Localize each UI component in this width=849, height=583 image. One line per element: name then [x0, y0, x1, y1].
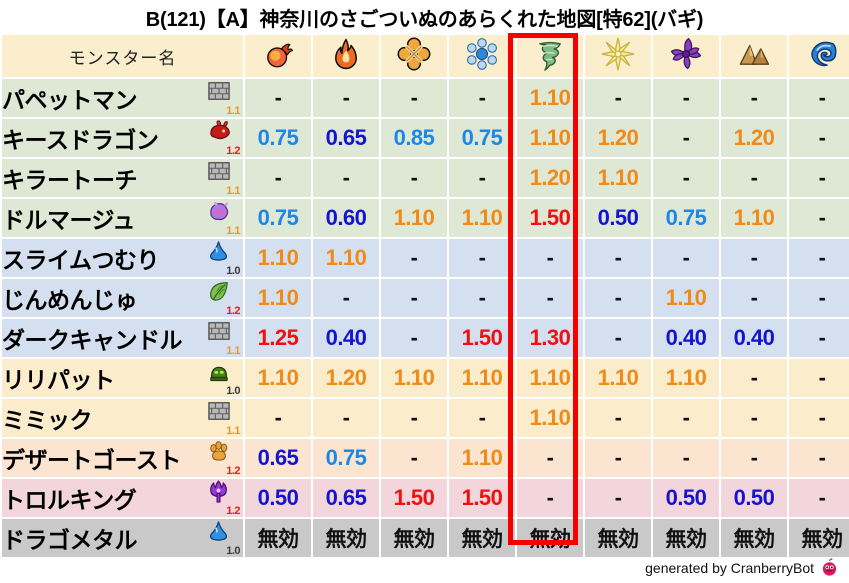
resistance-cell: 0.50	[585, 199, 651, 237]
resistance-cell: -	[381, 439, 447, 477]
resistance-cell: 無効	[721, 519, 787, 557]
resistance-cell: 1.10	[313, 239, 379, 277]
header-row: モンスター名	[2, 35, 849, 77]
resistance-cell: 無効	[381, 519, 447, 557]
bagi-wind-icon	[533, 37, 567, 71]
green-helmet-icon	[208, 360, 230, 382]
page-title: B(121)【A】神奈川のさごついぬのあらくれた地図[特62](バギ)	[0, 3, 849, 32]
footer-text: generated by CranberryBot	[645, 560, 814, 576]
resistance-cell: 1.10	[585, 359, 651, 397]
monster-badge: 1.2	[206, 480, 240, 516]
resistance-cell: 0.75	[245, 119, 311, 157]
resistance-cell: -	[653, 399, 719, 437]
resistance-cell: 無効	[517, 519, 583, 557]
resistance-cell: 1.30	[517, 319, 583, 357]
monster-name-cell[interactable]: パペットマン1.1	[2, 79, 243, 117]
resistance-cell: 1.25	[245, 319, 311, 357]
monster-badge: 1.1	[206, 80, 240, 116]
monster-name-cell[interactable]: じんめんじゅ1.2	[2, 279, 243, 317]
dein-light-icon	[601, 37, 635, 71]
resistance-cell: -	[313, 399, 379, 437]
resistance-cell: -	[381, 279, 447, 317]
resistance-cell: 0.75	[449, 119, 515, 157]
monster-badge: 1.1	[206, 200, 240, 236]
monster-badge-value: 1.2	[226, 466, 240, 477]
table-row: パペットマン1.1----1.10----	[2, 79, 849, 117]
monster-badge-value: 1.1	[226, 346, 240, 357]
red-dragon-icon	[208, 120, 232, 142]
cranberry-icon	[820, 558, 839, 577]
monster-name-label: ドラゴメタル	[2, 521, 137, 555]
monster-name-cell[interactable]: ドラゴメタル1.0	[2, 519, 243, 557]
resistance-cell: -	[517, 439, 583, 477]
column-header-monster-name: モンスター名	[2, 35, 243, 77]
table-row: リリパット1.01.101.201.101.101.101.101.10--	[2, 359, 849, 397]
resistance-cell: 1.10	[245, 279, 311, 317]
monster-name-cell[interactable]: ダークキャンドル1.1	[2, 319, 243, 357]
column-header-dolma-dark[interactable]	[653, 35, 719, 77]
column-header-dein-light[interactable]	[585, 35, 651, 77]
monster-name-label: キースドラゴン	[2, 121, 158, 155]
resistance-cell: 1.10	[517, 399, 583, 437]
resistance-cell: -	[789, 239, 849, 277]
resistance-cell: 1.10	[381, 199, 447, 237]
table-row: キースドラゴン1.20.750.650.850.751.101.20-1.20-	[2, 119, 849, 157]
resistance-cell: 1.10	[517, 359, 583, 397]
column-header-hyado-ice[interactable]	[449, 35, 515, 77]
resistance-cell: -	[517, 479, 583, 517]
resistance-cell: 1.50	[381, 479, 447, 517]
monster-name-label: じんめんじゅ	[2, 281, 137, 315]
column-header-jibaria-earth[interactable]	[721, 35, 787, 77]
table-row: じんめんじゅ1.21.10-----1.10--	[2, 279, 849, 317]
monster-name-cell[interactable]: デザートゴースト1.2	[2, 439, 243, 477]
resistance-cell: 1.50	[449, 479, 515, 517]
monster-badge: 1.1	[206, 400, 240, 436]
resistance-cell: 0.75	[313, 439, 379, 477]
resistance-cell: 無効	[313, 519, 379, 557]
brick-wall-icon	[208, 320, 230, 342]
resistance-cell: -	[381, 399, 447, 437]
monster-badge-value: 1.2	[226, 506, 240, 517]
resistance-cell: 0.85	[381, 119, 447, 157]
resistance-cell: 1.10	[653, 359, 719, 397]
monster-name-cell[interactable]: トロルキング1.2	[2, 479, 243, 517]
monster-badge-value: 1.1	[226, 426, 240, 437]
monster-name-cell[interactable]: スライムつむり1.0	[2, 239, 243, 277]
monster-badge: 1.0	[206, 360, 240, 396]
resistance-cell: 0.60	[313, 199, 379, 237]
dolma-dark-icon	[669, 37, 703, 71]
resistance-cell: -	[313, 159, 379, 197]
io-blast-icon	[397, 37, 431, 71]
resistance-cell: 無効	[585, 519, 651, 557]
resistance-cell: -	[449, 79, 515, 117]
resistance-cell: -	[585, 319, 651, 357]
resistance-cell: -	[381, 319, 447, 357]
monster-badge: 1.1	[206, 160, 240, 196]
zaki-wave-icon	[805, 37, 839, 71]
resistance-table: モンスター名 パペットマン1.1----1.10----キースドラゴン1.20.…	[0, 33, 849, 559]
resistance-cell: -	[585, 479, 651, 517]
resistance-cell: -	[721, 159, 787, 197]
resistance-cell: 0.50	[721, 479, 787, 517]
resistance-cell: -	[245, 79, 311, 117]
monster-badge-value: 1.0	[226, 546, 240, 557]
green-leaf-icon	[208, 280, 230, 302]
blue-slime-icon	[208, 240, 229, 263]
resistance-cell: 無効	[245, 519, 311, 557]
monster-name-label: パペットマン	[2, 81, 137, 115]
resistance-cell: -	[721, 279, 787, 317]
resistance-cell: -	[653, 79, 719, 117]
resistance-cell: -	[449, 159, 515, 197]
resistance-cell: -	[585, 239, 651, 277]
resistance-cell: -	[721, 239, 787, 277]
resistance-cell: 1.10	[517, 79, 583, 117]
resistance-cell: -	[517, 239, 583, 277]
resistance-table-page: B(121)【A】神奈川のさごついぬのあらくれた地図[特62](バギ) モンスタ…	[0, 0, 849, 583]
paw-print-icon	[208, 440, 230, 462]
resistance-cell: -	[653, 439, 719, 477]
monster-badge-value: 1.1	[226, 226, 240, 237]
resistance-cell: -	[653, 119, 719, 157]
monster-name-label: デザートゴースト	[2, 441, 181, 475]
jibaria-earth-icon	[737, 37, 771, 71]
monster-badge-value: 1.1	[226, 186, 240, 197]
resistance-cell: 無効	[449, 519, 515, 557]
monster-name-header-label: モンスター名	[69, 49, 177, 68]
monster-badge: 1.2	[206, 120, 240, 156]
resistance-cell: -	[381, 79, 447, 117]
monster-name-label: リリパット	[2, 361, 115, 395]
resistance-cell: -	[789, 319, 849, 357]
resistance-cell: -	[585, 279, 651, 317]
resistance-cell: 1.20	[517, 159, 583, 197]
resistance-cell: 1.20	[721, 119, 787, 157]
monster-badge: 1.2	[206, 440, 240, 476]
monster-badge-value: 1.0	[226, 386, 240, 397]
resistance-cell: -	[381, 239, 447, 277]
monster-badge-value: 1.0	[226, 266, 240, 277]
resistance-cell: 0.40	[721, 319, 787, 357]
purple-trident-icon	[208, 480, 229, 503]
resistance-cell: 1.10	[245, 239, 311, 277]
column-header-gira-flame[interactable]	[313, 35, 379, 77]
resistance-cell: 1.10	[653, 279, 719, 317]
resistance-cell: 1.20	[585, 119, 651, 157]
monster-badge: 1.2	[206, 280, 240, 316]
resistance-cell: -	[653, 159, 719, 197]
resistance-cell: -	[789, 119, 849, 157]
resistance-cell: -	[381, 159, 447, 197]
resistance-cell: 0.75	[245, 199, 311, 237]
resistance-cell: -	[653, 239, 719, 277]
brick-wall-icon	[208, 160, 230, 182]
resistance-cell: 1.10	[721, 199, 787, 237]
table-row: ダークキャンドル1.11.250.40-1.501.30-0.400.40-	[2, 319, 849, 357]
monster-name-cell[interactable]: ドルマージュ1.1	[2, 199, 243, 237]
resistance-cell: 1.20	[313, 359, 379, 397]
table-row: ドラゴメタル1.0無効無効無効無効無効無効無効無効無効	[2, 519, 849, 557]
meragi-fireball-icon	[261, 37, 295, 71]
resistance-cell: 0.40	[313, 319, 379, 357]
resistance-cell: -	[585, 439, 651, 477]
table-row: トロルキング1.20.500.651.501.50--0.500.50-	[2, 479, 849, 517]
resistance-cell: 1.10	[517, 119, 583, 157]
resistance-cell: 1.10	[245, 359, 311, 397]
column-header-meragi-fireball[interactable]	[245, 35, 311, 77]
resistance-cell: -	[449, 239, 515, 277]
resistance-cell: -	[313, 279, 379, 317]
table-head: モンスター名	[2, 35, 849, 77]
monster-badge: 1.0	[206, 240, 240, 276]
resistance-cell: 1.10	[449, 359, 515, 397]
resistance-cell: 0.65	[245, 439, 311, 477]
monster-name-label: ミミック	[2, 401, 92, 435]
monster-name-cell[interactable]: リリパット1.0	[2, 359, 243, 397]
monster-badge: 1.1	[206, 320, 240, 356]
monster-name-label: キラートーチ	[2, 161, 137, 195]
gira-flame-icon	[329, 37, 363, 71]
resistance-cell: 0.40	[653, 319, 719, 357]
monster-badge-value: 1.2	[226, 146, 240, 157]
monster-name-label: スライムつむり	[2, 241, 159, 275]
purple-ghost-icon	[208, 200, 231, 222]
resistance-cell: 0.50	[245, 479, 311, 517]
resistance-cell: -	[789, 279, 849, 317]
blue-slime-icon	[208, 520, 229, 543]
resistance-cell: -	[789, 439, 849, 477]
resistance-cell: 1.10	[449, 439, 515, 477]
table-row: スライムつむり1.01.101.10-------	[2, 239, 849, 277]
monster-badge-value: 1.1	[226, 106, 240, 117]
resistance-cell: -	[789, 359, 849, 397]
brick-wall-icon	[208, 80, 230, 102]
monster-name-label: ドルマージュ	[2, 201, 135, 235]
resistance-cell: -	[517, 279, 583, 317]
monster-name-label: ダークキャンドル	[2, 321, 182, 355]
resistance-cell: 無効	[653, 519, 719, 557]
monster-name-cell[interactable]: ミミック1.1	[2, 399, 243, 437]
table-row: ドルマージュ1.10.750.601.101.101.500.500.751.1…	[2, 199, 849, 237]
resistance-cell: -	[721, 439, 787, 477]
resistance-cell: -	[449, 279, 515, 317]
column-header-bagi-wind[interactable]	[517, 35, 583, 77]
monster-badge-value: 1.2	[226, 306, 240, 317]
resistance-cell: 1.10	[381, 359, 447, 397]
resistance-cell: 0.65	[313, 119, 379, 157]
resistance-cell: 1.10	[449, 199, 515, 237]
footer-credit: generated by CranberryBot	[645, 558, 839, 577]
resistance-cell: 1.10	[585, 159, 651, 197]
resistance-cell: -	[721, 79, 787, 117]
table-row: デザートゴースト1.20.650.75-1.10-----	[2, 439, 849, 477]
resistance-cell: 0.50	[653, 479, 719, 517]
resistance-cell: -	[721, 359, 787, 397]
resistance-cell: -	[313, 79, 379, 117]
resistance-cell: -	[245, 399, 311, 437]
table-body: パペットマン1.1----1.10----キースドラゴン1.20.750.650…	[2, 79, 849, 557]
resistance-cell: -	[721, 399, 787, 437]
resistance-cell: 1.50	[449, 319, 515, 357]
resistance-cell: -	[585, 79, 651, 117]
resistance-cell: -	[449, 399, 515, 437]
resistance-cell: 0.75	[653, 199, 719, 237]
resistance-cell: -	[789, 199, 849, 237]
monster-name-label: トロルキング	[2, 481, 136, 515]
resistance-cell: 1.50	[517, 199, 583, 237]
monster-name-cell[interactable]: キラートーチ1.1	[2, 159, 243, 197]
table-row: ミミック1.1----1.10----	[2, 399, 849, 437]
monster-badge: 1.0	[206, 520, 240, 556]
column-header-zaki-wave[interactable]	[789, 35, 849, 77]
resistance-cell: 0.65	[313, 479, 379, 517]
monster-name-cell[interactable]: キースドラゴン1.2	[2, 119, 243, 157]
resistance-cell: 無効	[789, 519, 849, 557]
resistance-cell: -	[789, 79, 849, 117]
resistance-cell: -	[789, 399, 849, 437]
resistance-cell: -	[789, 479, 849, 517]
column-header-io-blast[interactable]	[381, 35, 447, 77]
resistance-cell: -	[789, 159, 849, 197]
table-row: キラートーチ1.1----1.201.10---	[2, 159, 849, 197]
brick-wall-icon	[208, 400, 230, 422]
resistance-cell: -	[585, 399, 651, 437]
hyado-ice-icon	[465, 37, 499, 71]
resistance-cell: -	[245, 159, 311, 197]
